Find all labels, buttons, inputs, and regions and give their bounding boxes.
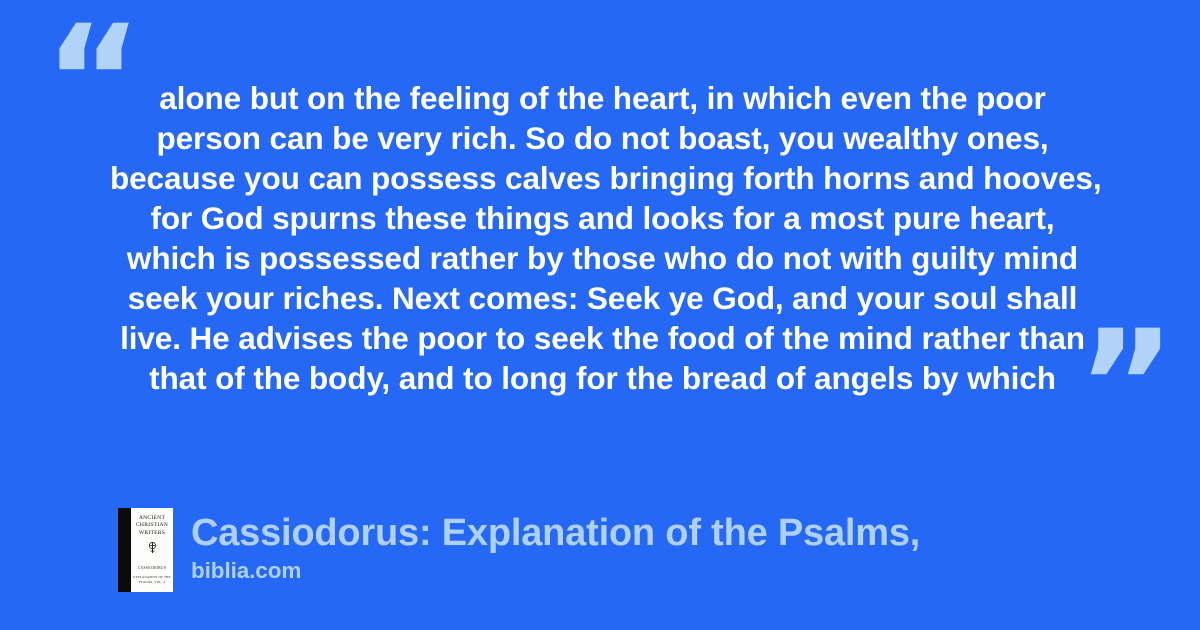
- source-site: biblia.com: [191, 557, 920, 585]
- quote-line: for God spurns these things and looks fo…: [110, 198, 1095, 238]
- source-title: Cassiodorus: Explanation of the Psalms,: [191, 510, 920, 556]
- quote-line: alone but on the feeling of the heart, i…: [110, 78, 1095, 118]
- quote-line: live. He advises the poor to seek the fo…: [110, 318, 1095, 358]
- quote-card: “ alone but on the feeling of the heart,…: [0, 0, 1200, 630]
- book-spine: [118, 508, 131, 592]
- attribution-footer: Ancient Christian Writers Cassiodorus Ex…: [118, 508, 920, 592]
- quote-line: because you can possess calves bringing …: [110, 158, 1095, 198]
- close-quote-icon: ”: [1077, 311, 1176, 461]
- quote-text-block: alone but on the feeling of the heart, i…: [110, 78, 1095, 398]
- cross-emblem-icon: [147, 541, 158, 554]
- attribution-text: Cassiodorus: Explanation of the Psalms, …: [191, 508, 920, 585]
- book-author-label: Cassiodorus: [131, 566, 173, 570]
- quote-line: seek your riches. Next comes: Seek ye Go…: [110, 278, 1095, 318]
- book-cover-thumbnail: Ancient Christian Writers Cassiodorus Ex…: [118, 508, 173, 592]
- quote-line: that of the body, and to long for the br…: [110, 358, 1095, 398]
- quote-line: person can be very rich. So do not boast…: [110, 118, 1095, 158]
- book-subtitle-label: Explanation of the Psalms, Vol. 2: [131, 575, 173, 584]
- book-series-label: Ancient Christian Writers: [131, 515, 173, 537]
- quote-line: which is possessed rather by those who d…: [110, 238, 1095, 278]
- book-front-face: Ancient Christian Writers Cassiodorus Ex…: [131, 508, 173, 592]
